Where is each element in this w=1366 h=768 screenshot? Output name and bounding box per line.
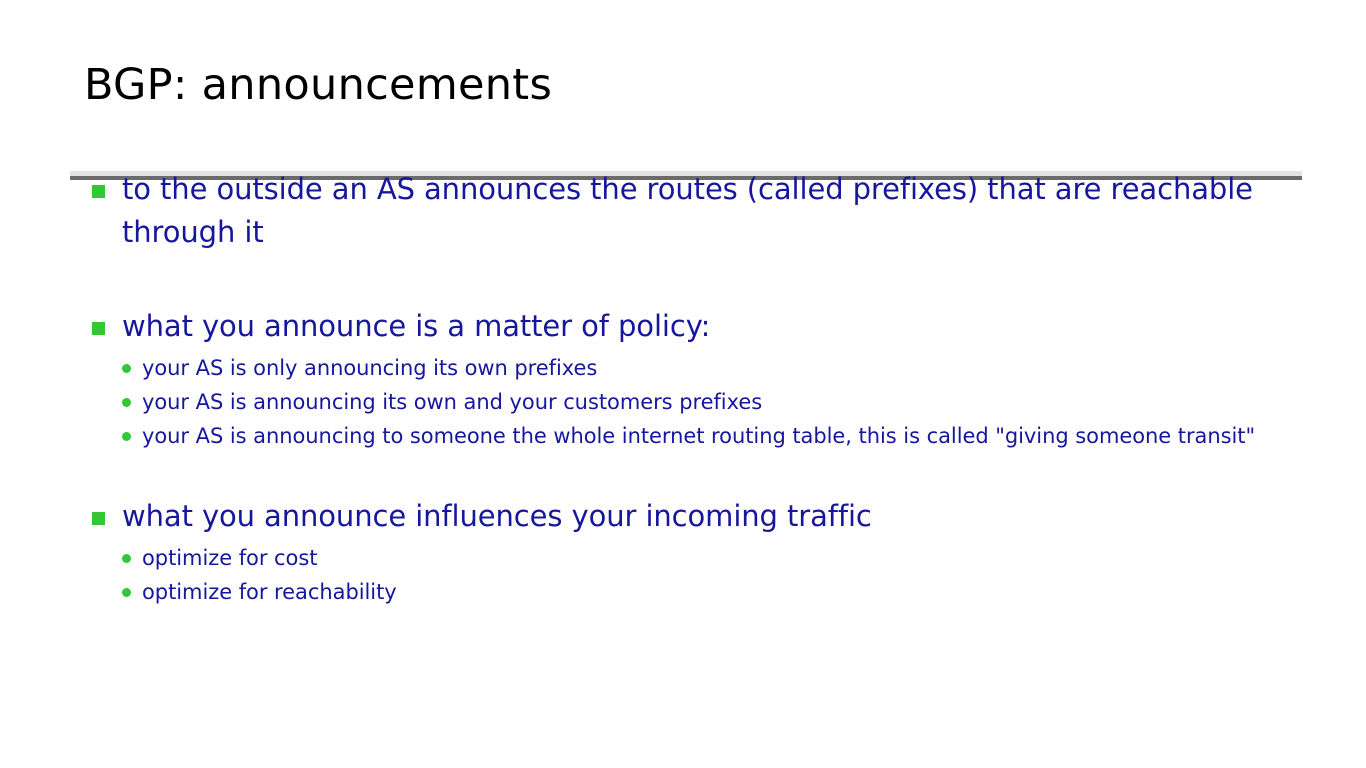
bullet-text: to the outside an AS announces the route… [122,172,1253,249]
bullet-item-level1: what you announce influences your incomi… [88,495,1288,538]
bullet-item-level2: your AS is announcing to someone the who… [118,419,1288,453]
square-bullet-icon [92,185,105,198]
sub-bullet-text: your AS is announcing to someone the who… [142,424,1255,448]
bullet-item-level1: what you announce is a matter of policy: [88,305,1288,348]
sub-bullet-text: optimize for cost [142,546,317,570]
bullet-text: what you announce is a matter of policy: [122,309,710,343]
presentation-slide: BGP: announcements to the outside an AS … [0,0,1366,768]
bullet-text: what you announce influences your incomi… [122,499,872,533]
dot-bullet-icon [122,588,131,597]
dot-bullet-icon [122,554,131,563]
bullet-item-level1: to the outside an AS announces the route… [88,168,1288,254]
bullet-item-level2: optimize for reachability [118,575,1288,609]
sub-bullet-list: optimize for cost optimize for reachabil… [88,541,1288,609]
sub-bullet-text: your AS is only announcing its own prefi… [142,356,597,380]
bullet-item-level2: optimize for cost [118,541,1288,575]
sub-bullet-text: your AS is announcing its own and your c… [142,390,762,414]
bullet-item-level2: your AS is only announcing its own prefi… [118,351,1288,385]
spacer [88,453,1288,495]
square-bullet-icon [92,512,105,525]
page-title: BGP: announcements [70,58,1300,112]
bullet-item-level2: your AS is announcing its own and your c… [118,385,1288,419]
spacer [88,254,1288,305]
sub-bullet-text: optimize for reachability [142,580,397,604]
dot-bullet-icon [122,364,131,373]
dot-bullet-icon [122,398,131,407]
slide-header: BGP: announcements [70,58,1300,112]
dot-bullet-icon [122,432,131,441]
square-bullet-icon [92,322,105,335]
slide-body: to the outside an AS announces the route… [88,168,1288,609]
sub-bullet-list: your AS is only announcing its own prefi… [88,351,1288,453]
